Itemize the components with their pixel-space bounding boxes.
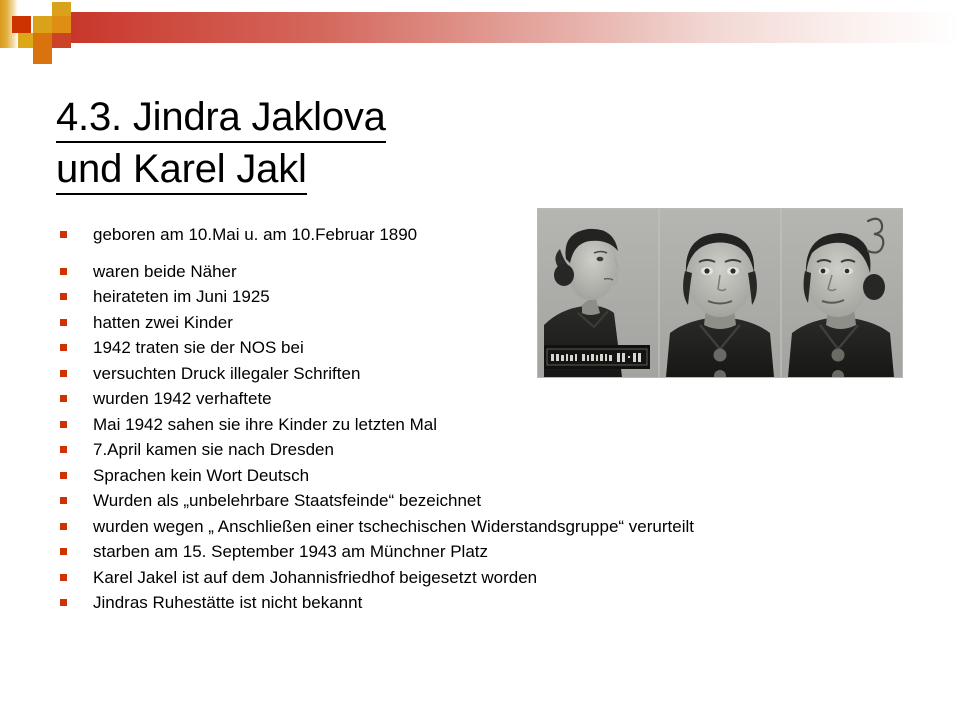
list-item-label: wurden 1942 verhaftete bbox=[93, 389, 272, 408]
bullet-square-icon bbox=[60, 231, 67, 238]
deco-square-red bbox=[12, 16, 31, 33]
list-item-label: waren beide Näher bbox=[93, 262, 237, 281]
list-item: Mai 1942 sahen sie ihre Kinder zu letzte… bbox=[58, 412, 888, 438]
deco-square-gold-low bbox=[18, 33, 33, 48]
deco-square-orange-low bbox=[33, 33, 52, 48]
list-item: wurden 1942 verhaftete bbox=[58, 386, 888, 412]
mugshot-photo-graphic bbox=[538, 209, 902, 377]
list-item: Jindras Ruhestätte ist nicht bekannt bbox=[58, 590, 888, 616]
list-item-label: hatten zwei Kinder bbox=[93, 313, 233, 332]
list-item-label: versuchten Druck illegaler Schriften bbox=[93, 364, 360, 383]
mugshot-photo bbox=[537, 208, 903, 378]
list-item: Sprachen kein Wort Deutsch bbox=[58, 463, 888, 489]
bullet-square-icon bbox=[60, 344, 67, 351]
list-item: 7.April kamen sie nach Dresden bbox=[58, 437, 888, 463]
list-item: Wurden als „unbelehrbare Staatsfeinde“ b… bbox=[58, 488, 888, 514]
slide-header-decoration bbox=[0, 0, 960, 62]
list-item-label: 7.April kamen sie nach Dresden bbox=[93, 440, 334, 459]
list-item-label: heirateten im Juni 1925 bbox=[93, 287, 270, 306]
bullet-square-icon bbox=[60, 599, 67, 606]
list-item-label: Sprachen kein Wort Deutsch bbox=[93, 466, 309, 485]
bullet-square-icon bbox=[60, 268, 67, 275]
bullet-square-icon bbox=[60, 548, 67, 555]
list-item-label: starben am 15. September 1943 am Münchne… bbox=[93, 542, 488, 561]
bullet-square-icon bbox=[60, 497, 67, 504]
list-item-label: geboren am 10.Mai u. am 10.Februar 1890 bbox=[93, 225, 417, 244]
page-title: 4.3. Jindra Jaklova und Karel Jakl bbox=[56, 95, 576, 195]
bullet-square-icon bbox=[60, 472, 67, 479]
bullet-square-icon bbox=[60, 574, 67, 581]
deco-square-orange-mid bbox=[52, 16, 71, 33]
deco-square-orange-bottom bbox=[33, 48, 52, 64]
list-item-label: Karel Jakel ist auf dem Johannisfriedhof… bbox=[93, 568, 537, 587]
list-item-label: wurden wegen „ Anschließen einer tschech… bbox=[93, 517, 694, 536]
bullet-square-icon bbox=[60, 293, 67, 300]
list-item-label: Wurden als „unbelehrbare Staatsfeinde“ b… bbox=[93, 491, 481, 510]
page-title-line-1: 4.3. Jindra Jaklova bbox=[56, 95, 386, 143]
bullet-square-icon bbox=[60, 319, 67, 326]
bullet-square-icon bbox=[60, 395, 67, 402]
bullet-square-icon bbox=[60, 446, 67, 453]
bullet-square-icon bbox=[60, 421, 67, 428]
deco-square-gold-mid bbox=[33, 16, 52, 33]
list-item-label: 1942 traten sie der NOS bei bbox=[93, 338, 304, 357]
page-title-line-2: und Karel Jakl bbox=[56, 147, 307, 195]
list-item: Karel Jakel ist auf dem Johannisfriedhof… bbox=[58, 565, 888, 591]
list-item: starben am 15. September 1943 am Münchne… bbox=[58, 539, 888, 565]
bullet-square-icon bbox=[60, 523, 67, 530]
deco-square-gold-top bbox=[52, 2, 71, 16]
deco-square-red-low bbox=[52, 33, 71, 48]
list-item-label: Jindras Ruhestätte ist nicht bekannt bbox=[93, 593, 362, 612]
list-item-label: Mai 1942 sahen sie ihre Kinder zu letzte… bbox=[93, 415, 437, 434]
list-item: wurden wegen „ Anschließen einer tschech… bbox=[58, 514, 888, 540]
bullet-square-icon bbox=[60, 370, 67, 377]
header-gradient-band bbox=[70, 12, 960, 43]
